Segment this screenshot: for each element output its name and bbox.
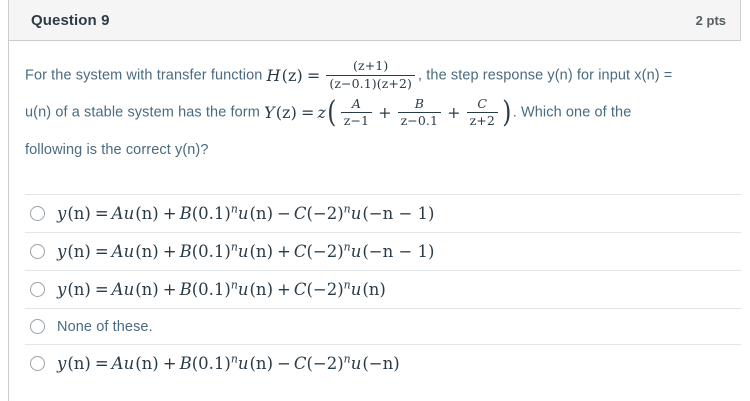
transfer-function-expression: H(z)=(z+1)(z−0.1)(z+2)	[267, 57, 418, 94]
question-body: For the system with transfer function H(…	[9, 41, 741, 169]
option-label-1: y(n)=Au(n)+B(0.1)nu(n)−C(−2)nu(−n − 1)	[57, 204, 435, 223]
opt3-u2arg: (n)	[249, 280, 275, 299]
opt5-A: A	[112, 354, 124, 373]
opt1-baseb: (0.1)	[192, 204, 231, 223]
stem-text-line-3: following is the correct y(n)?	[25, 142, 209, 158]
left-paren-icon: (	[327, 99, 336, 126]
option-label-3: y(n)=Au(n)+B(0.1)nu(n)+C(−2)nu(n)	[57, 280, 387, 299]
opt2-u2arg: (n)	[249, 242, 275, 261]
opt3-eq: =	[92, 280, 112, 299]
math-z-multiplier: z	[317, 103, 326, 122]
opt5-u1arg: (n)	[134, 354, 160, 373]
radio-button-icon-1[interactable]	[30, 206, 45, 221]
opt3-u3arg: (n)	[361, 280, 387, 299]
opt1-expb: n	[231, 203, 238, 216]
stem-text-prefix-2: u(n) of a stable system has the form	[25, 105, 260, 121]
radio-button-icon-3[interactable]	[30, 282, 45, 297]
option-row-2[interactable]: y(n)=Au(n)+B(0.1)nu(n)+C(−2)nu(−n − 1)	[25, 232, 741, 270]
stem-text-prefix: For the system with transfer function	[25, 67, 262, 83]
opt2-u1arg: (n)	[134, 242, 160, 261]
opt3-yarg: (n)	[66, 280, 92, 299]
opt2-u3: u	[351, 242, 362, 261]
question-stem: For the system with transfer function H(…	[25, 57, 725, 169]
opt2-op2: +	[274, 242, 294, 261]
opt2-expc: n	[344, 241, 351, 254]
opt5-B: B	[180, 354, 192, 373]
opt5-op2: −	[274, 354, 294, 373]
stem-line-3: following is the correct y(n)?	[25, 132, 725, 169]
opt3-basec: (−2)	[306, 280, 343, 299]
opt2-y: y	[57, 242, 66, 261]
opt2-u3arg: (−n − 1)	[361, 242, 435, 261]
opt5-op1: +	[160, 354, 180, 373]
opt1-B: B	[180, 204, 192, 223]
opt5-u2arg: (n)	[249, 354, 275, 373]
option-row-5[interactable]: y(n)=Au(n)+B(0.1)nu(n)−C(−2)nu(−n)	[25, 344, 741, 382]
opt1-op2: −	[274, 204, 294, 223]
fraction-denominator: (z−0.1)(z+2)	[326, 75, 415, 92]
right-paren-icon: )	[502, 99, 511, 126]
opt3-baseb: (0.1)	[192, 280, 231, 299]
opt1-basec: (−2)	[306, 204, 343, 223]
math-y-label: Y	[264, 103, 275, 122]
radio-button-icon-4[interactable]	[30, 319, 45, 334]
opt1-expc: n	[344, 203, 351, 216]
term-a-fraction: Az−1	[341, 97, 372, 130]
opt1-eq: =	[92, 204, 112, 223]
opt3-op2: +	[274, 280, 294, 299]
term-b-denominator: z−0.1	[398, 112, 441, 129]
math-equals: =	[304, 66, 324, 85]
opt1-y: y	[57, 204, 66, 223]
opt3-u1: u	[124, 280, 135, 299]
opt5-y: y	[57, 354, 66, 373]
opt3-u3: u	[351, 280, 362, 299]
term-b-numerator: B	[398, 97, 441, 113]
stem-line-2: u(n) of a stable system has the form Y(z…	[25, 94, 725, 131]
math-equals-2: =	[298, 103, 318, 122]
opt3-u2: u	[238, 280, 249, 299]
opt1-u2: u	[238, 204, 249, 223]
opt2-u2: u	[238, 242, 249, 261]
math-y-arg: (z)	[275, 103, 298, 122]
opt2-yarg: (n)	[66, 242, 92, 261]
opt2-B: B	[180, 242, 192, 261]
opt1-u3: u	[351, 204, 362, 223]
option-row-3[interactable]: y(n)=Au(n)+B(0.1)nu(n)+C(−2)nu(n)	[25, 270, 741, 308]
question-header: Question 9 2 pts	[9, 0, 741, 41]
opt3-C: C	[294, 280, 307, 299]
term-c-numerator: C	[467, 97, 498, 113]
opt1-yarg: (n)	[66, 204, 92, 223]
question-card: Question 9 2 pts For the system with tra…	[0, 0, 750, 401]
opt5-u3arg: (−n)	[361, 354, 400, 373]
stem-text-suffix-2: . Which one of the	[513, 105, 632, 121]
term-a-numerator: A	[341, 97, 372, 113]
opt5-baseb: (0.1)	[192, 354, 231, 373]
y-transform-expression: Y(z)=z(Az−1+Bz−0.1+Cz+2)	[264, 94, 513, 131]
math-h-label: H	[267, 66, 281, 85]
option-label-2: y(n)=Au(n)+B(0.1)nu(n)+C(−2)nu(−n − 1)	[57, 242, 435, 261]
opt2-C: C	[294, 242, 307, 261]
stem-line-1: For the system with transfer function H(…	[25, 57, 725, 94]
radio-button-icon-2[interactable]	[30, 244, 45, 259]
opt5-yarg: (n)	[66, 354, 92, 373]
term-a-denominator: z−1	[341, 112, 372, 129]
opt2-expb: n	[231, 241, 238, 254]
opt1-A: A	[112, 204, 124, 223]
opt5-C: C	[294, 354, 307, 373]
opt5-basec: (−2)	[306, 354, 343, 373]
term-c-fraction: Cz+2	[467, 97, 498, 130]
opt1-u3arg: (−n − 1)	[361, 204, 435, 223]
opt3-expc: n	[344, 279, 351, 292]
opt5-expb: n	[231, 353, 238, 366]
opt5-u1: u	[124, 354, 135, 373]
page-title: Question 9	[31, 12, 110, 29]
opt3-op1: +	[160, 280, 180, 299]
opt3-B: B	[180, 280, 192, 299]
opt1-C: C	[294, 204, 307, 223]
opt3-A: A	[112, 280, 124, 299]
opt2-basec: (−2)	[306, 242, 343, 261]
opt3-y: y	[57, 280, 66, 299]
opt3-expb: n	[231, 279, 238, 292]
radio-button-icon-5[interactable]	[30, 356, 45, 371]
opt1-u1: u	[124, 204, 135, 223]
math-plus-1: +	[375, 103, 395, 122]
opt1-u2arg: (n)	[249, 204, 275, 223]
opt5-u3: u	[351, 354, 362, 373]
term-b-fraction: Bz−0.1	[398, 97, 441, 130]
opt2-A: A	[112, 242, 124, 261]
transfer-function-fraction: (z+1)(z−0.1)(z+2)	[326, 59, 415, 92]
option-label-4: None of these.	[57, 319, 153, 335]
opt2-baseb: (0.1)	[192, 242, 231, 261]
opt1-u1arg: (n)	[134, 204, 160, 223]
option-row-1[interactable]: y(n)=Au(n)+B(0.1)nu(n)−C(−2)nu(−n − 1)	[25, 194, 741, 232]
math-plus-2: +	[444, 103, 464, 122]
stem-text-suffix-1: , the step response y(n) for input x(n) …	[418, 67, 672, 83]
math-h-arg: (z)	[281, 66, 304, 85]
opt5-expc: n	[344, 353, 351, 366]
option-row-4[interactable]: None of these.	[25, 308, 741, 344]
option-label-5: y(n)=Au(n)+B(0.1)nu(n)−C(−2)nu(−n)	[57, 354, 401, 373]
opt1-op1: +	[160, 204, 180, 223]
fraction-numerator: (z+1)	[326, 59, 415, 75]
term-c-denominator: z+2	[467, 112, 498, 129]
opt3-u1arg: (n)	[134, 280, 160, 299]
points-badge: 2 pts	[696, 13, 726, 28]
opt5-eq: =	[92, 354, 112, 373]
opt5-u2: u	[238, 354, 249, 373]
opt2-op1: +	[160, 242, 180, 261]
answer-options-list: y(n)=Au(n)+B(0.1)nu(n)−C(−2)nu(−n − 1) y…	[25, 194, 741, 382]
opt2-u1: u	[124, 242, 135, 261]
opt2-eq: =	[92, 242, 112, 261]
